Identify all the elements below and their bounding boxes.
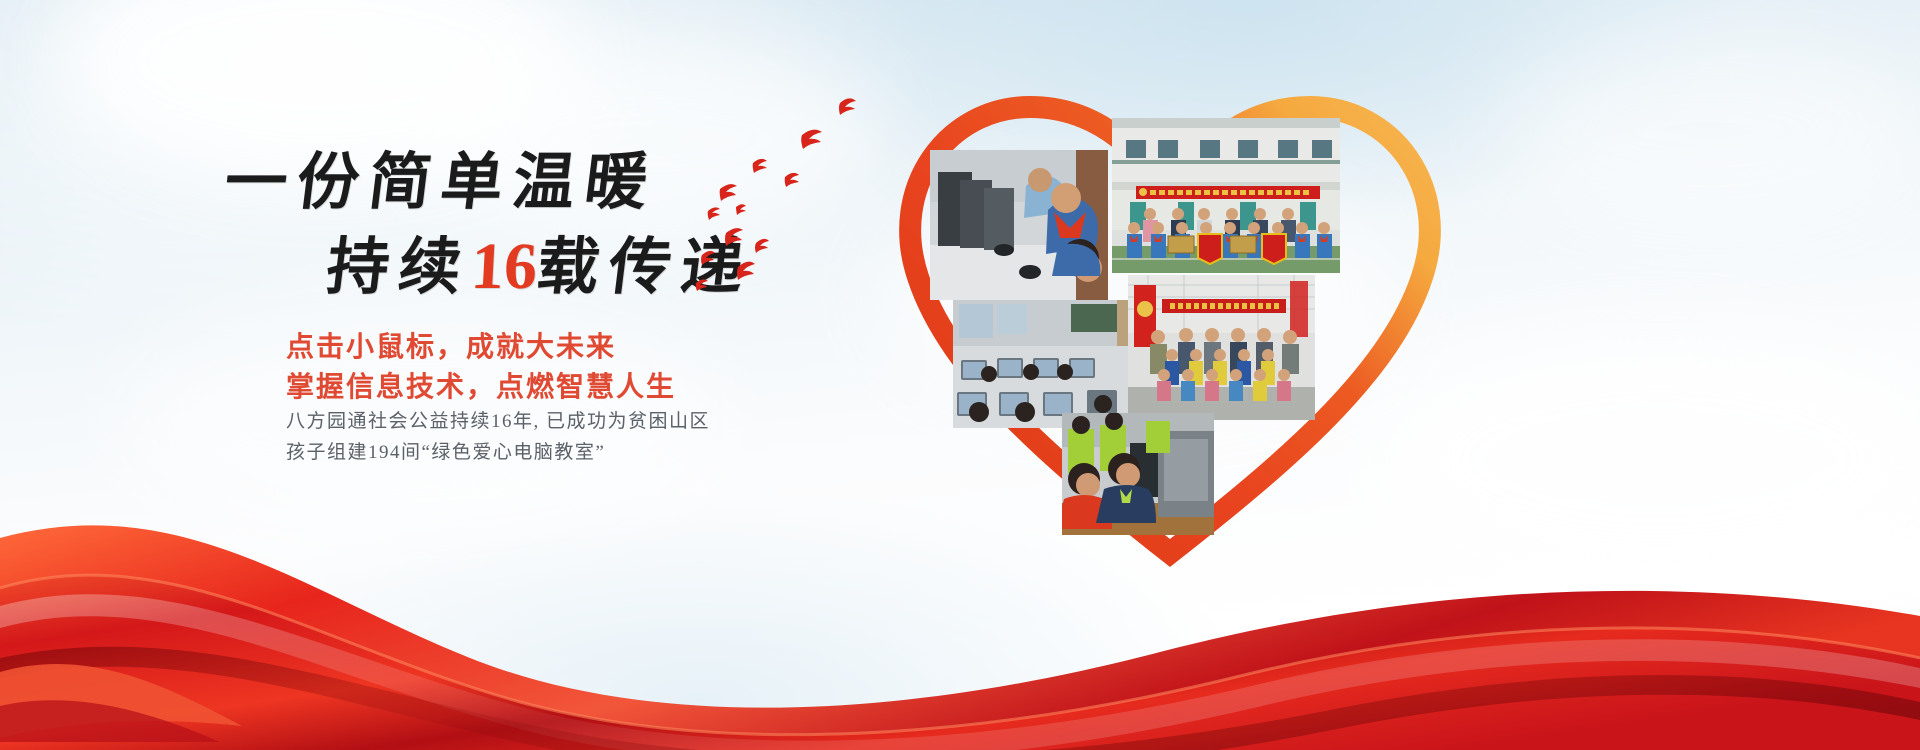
cloud-decor: [1500, 30, 1920, 230]
heart-photo-collage: [840, 45, 1500, 575]
body-copy: 八方园通社会公益持续16年, 已成功为贫困山区 孩子组建194间“绿色爱心电脑教…: [286, 406, 710, 468]
photo-kids-computers: [930, 150, 1108, 300]
charity-banner: 一份简单温暖 持续16载传递 点击小鼠标，成就大未来 掌握信息技术，点燃智慧人生…: [0, 0, 1920, 750]
photo-computer-classroom: [953, 300, 1145, 428]
subtitle-line-1: 点击小鼠标，成就大未来: [286, 327, 676, 367]
photo-indoor-group: [1128, 275, 1315, 420]
photo-school-donation-ceremony: [1112, 118, 1340, 273]
photo-boys-at-monitor: [1062, 413, 1214, 535]
subtitle: 点击小鼠标，成就大未来 掌握信息技术，点燃智慧人生: [286, 327, 676, 407]
body-copy-line-1: 八方园通社会公益持续16年, 已成功为贫困山区: [286, 406, 710, 437]
headline-line-2-prefix: 持续: [323, 234, 475, 302]
subtitle-line-2: 掌握信息技术，点燃智慧人生: [286, 367, 676, 407]
body-copy-line-2: 孩子组建194间“绿色爱心电脑教室”: [286, 437, 710, 468]
headline-years-number: 16: [469, 232, 539, 302]
